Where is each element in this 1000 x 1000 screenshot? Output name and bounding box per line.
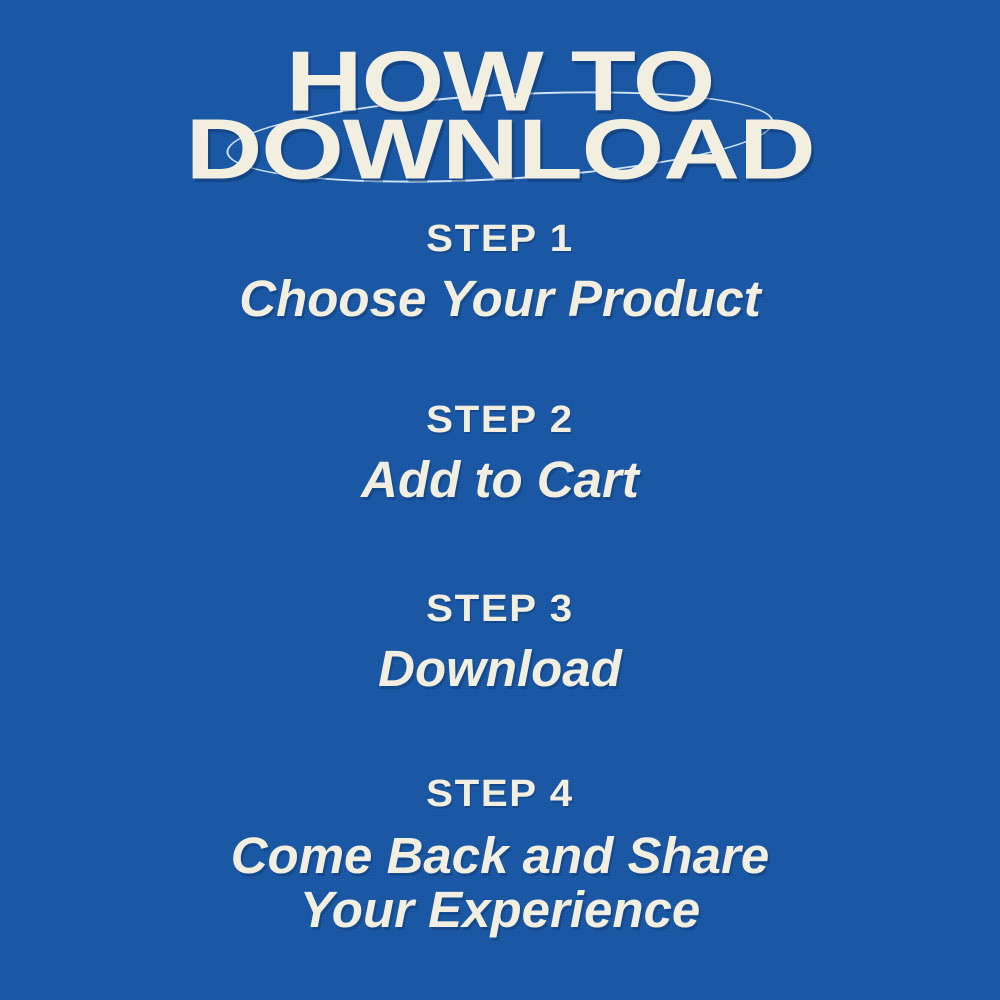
step-3-label: STEP 3 <box>0 590 1000 630</box>
step-1-description: Choose Your Product <box>0 272 1000 327</box>
step-item-4: STEP 4 Come Back and Share Your Experien… <box>0 775 1000 938</box>
step-2-description-line-1: Add to Cart <box>0 453 1000 508</box>
step-3-description-line-1: Download <box>0 642 1000 697</box>
poster-canvas: HOW TO DOWNLOAD STEP 1 Choose Your Produ… <box>0 0 1000 1000</box>
step-4-description-line-2: Your Experience <box>0 883 1000 938</box>
step-item-2: STEP 2 Add to Cart <box>0 401 1000 507</box>
step-item-3: STEP 3 Download <box>0 590 1000 696</box>
step-4-label: STEP 4 <box>0 775 1000 815</box>
step-3-description: Download <box>0 642 1000 697</box>
step-1-description-line-1: Choose Your Product <box>0 272 1000 327</box>
step-item-1: STEP 1 Choose Your Product <box>0 220 1000 326</box>
step-4-description-line-1: Come Back and Share <box>0 829 1000 884</box>
step-4-description: Come Back and Share Your Experience <box>0 829 1000 938</box>
step-1-label: STEP 1 <box>0 220 1000 260</box>
step-2-label: STEP 2 <box>0 401 1000 441</box>
step-2-description: Add to Cart <box>0 453 1000 508</box>
title-block: HOW TO DOWNLOAD <box>0 28 1000 203</box>
title-line-download: DOWNLOAD <box>0 108 1000 193</box>
